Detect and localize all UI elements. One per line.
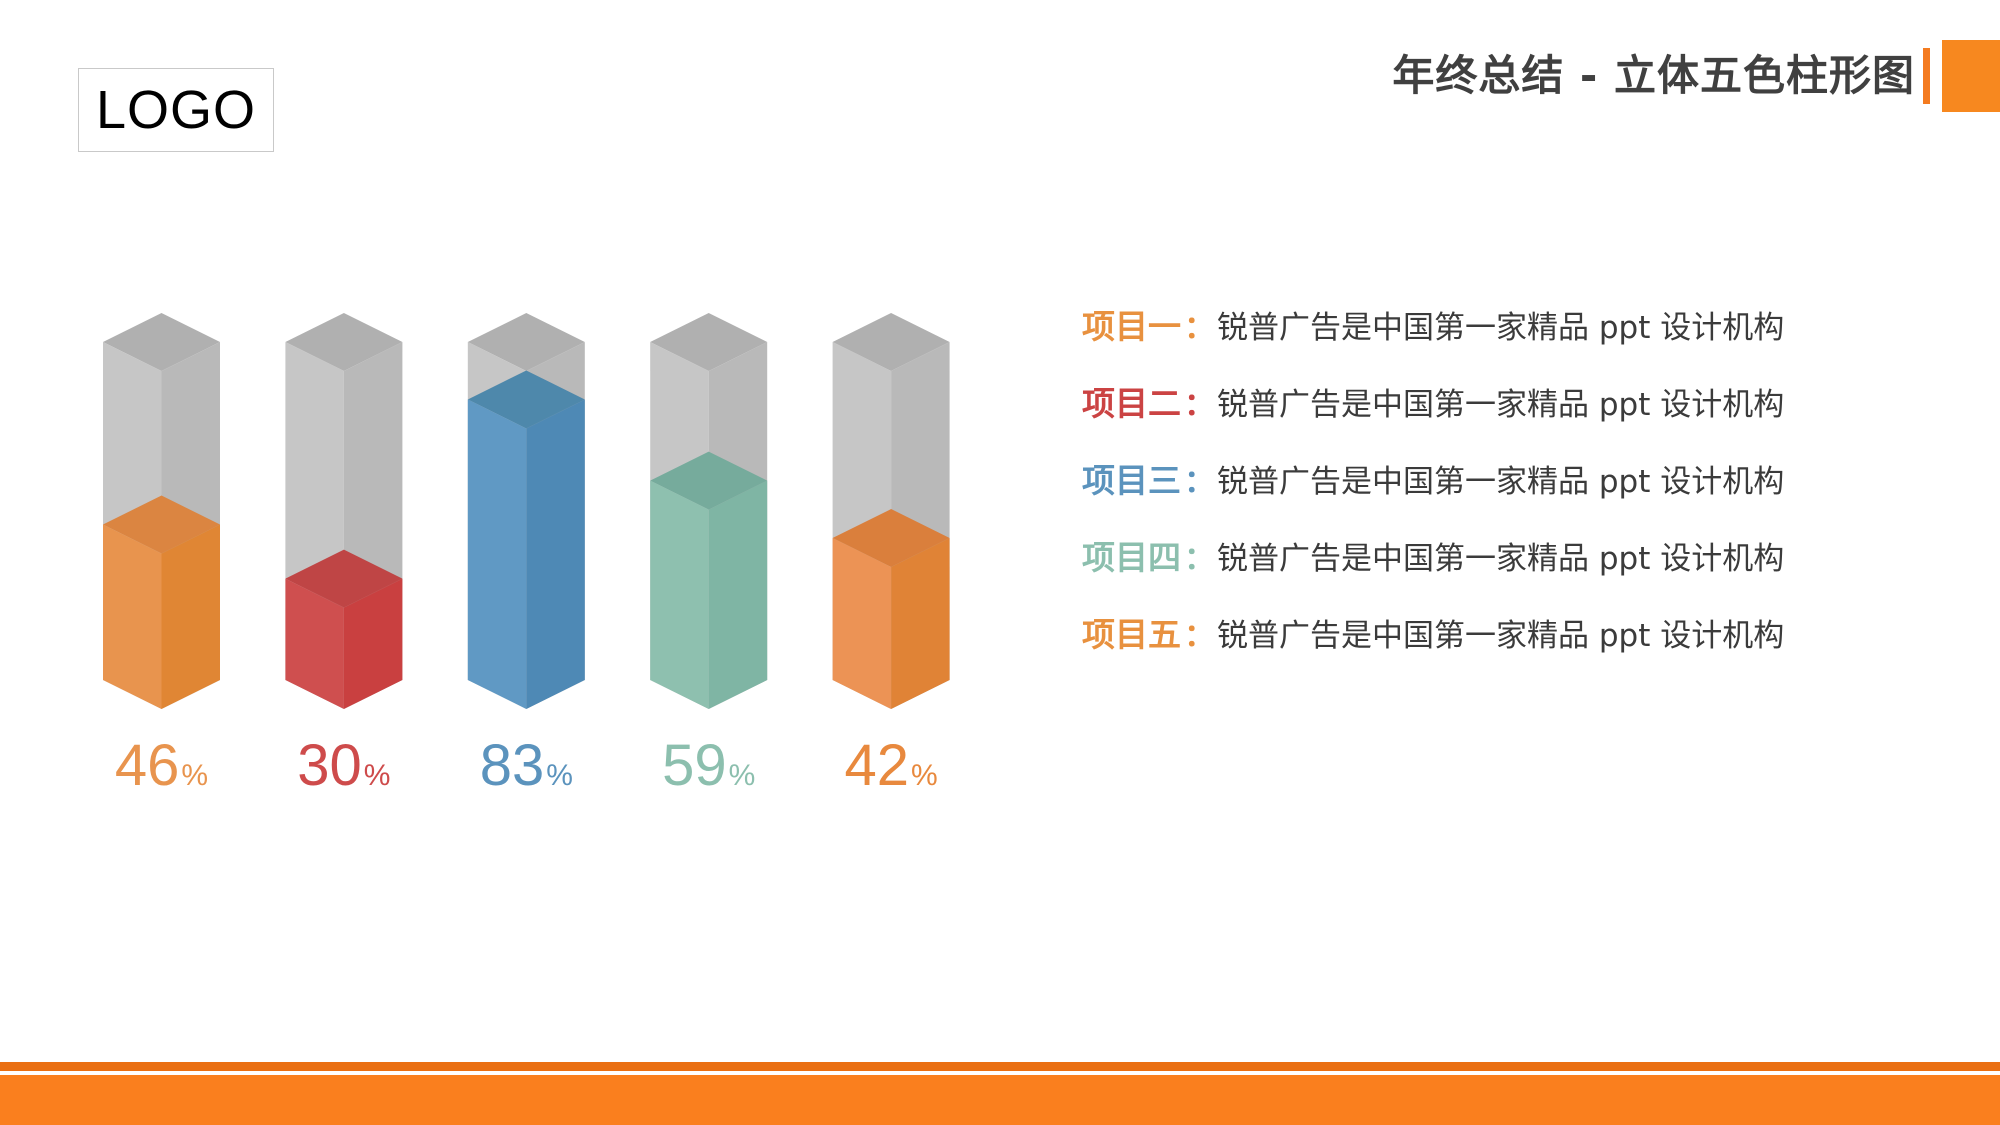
bar-value-percent-sign: %	[364, 759, 391, 792]
bar-value-right-face	[709, 481, 768, 709]
bar-value-percent-sign: %	[181, 759, 208, 792]
legend-item-key: 项目四	[1082, 531, 1181, 579]
bar-value-left-face	[650, 481, 709, 709]
legend-item-key: 项目五	[1082, 608, 1181, 656]
bar-value-percent-sign: %	[911, 759, 938, 792]
slide-canvas: LOGO 年终总结 - 立体五色柱形图 46%30%83%59%42% 项目一：…	[0, 0, 2000, 1125]
bar-column[interactable]	[285, 313, 402, 709]
bar-value-number: 83	[480, 733, 545, 798]
bar-column[interactable]	[650, 313, 767, 709]
bar-chart: 46%30%83%59%42%	[0, 0, 1060, 820]
legend-list: 项目一：锐普广告是中国第一家精品 ppt 设计机构项目二：锐普广告是中国第一家精…	[1082, 300, 1962, 685]
legend-item[interactable]: 项目五：锐普广告是中国第一家精品 ppt 设计机构	[1082, 608, 1962, 685]
legend-item-key: 项目一	[1082, 300, 1181, 348]
bar-value-number: 46	[115, 733, 180, 798]
legend-item-colon: ：	[1184, 610, 1215, 655]
slide-header: 年终总结 - 立体五色柱形图	[1392, 42, 2000, 110]
legend-item-key: 项目三	[1082, 454, 1181, 502]
legend-item-key: 项目二	[1082, 377, 1181, 425]
title-accent-rule	[1923, 48, 1930, 104]
legend-item-colon: ：	[1184, 456, 1215, 501]
bar-value-left-face	[833, 538, 892, 709]
bar-value-number: 59	[662, 733, 727, 798]
legend-item-description: 锐普广告是中国第一家精品 ppt 设计机构	[1217, 456, 1784, 501]
legend-item[interactable]: 项目一：锐普广告是中国第一家精品 ppt 设计机构	[1082, 300, 1962, 377]
legend-item-colon: ：	[1184, 302, 1215, 347]
legend-item-description: 锐普广告是中国第一家精品 ppt 设计机构	[1217, 610, 1784, 655]
bar-column[interactable]	[833, 313, 950, 709]
page-title: 年终总结 - 立体五色柱形图	[1392, 55, 1915, 97]
bar-value-number: 42	[844, 733, 909, 798]
legend-item-colon: ：	[1184, 533, 1215, 578]
title-accent-block	[1942, 40, 2000, 112]
legend-item[interactable]: 项目二：锐普广告是中国第一家精品 ppt 设计机构	[1082, 377, 1962, 454]
legend-item[interactable]: 项目四：锐普广告是中国第一家精品 ppt 设计机构	[1082, 531, 1962, 608]
legend-item[interactable]: 项目三：锐普广告是中国第一家精品 ppt 设计机构	[1082, 454, 1962, 531]
bar-value-label: 42%	[781, 737, 1001, 795]
bar-column[interactable]	[103, 313, 220, 709]
bar-chart-svg	[0, 0, 1060, 820]
bar-column[interactable]	[468, 313, 585, 709]
bar-value-left-face	[103, 525, 162, 709]
legend-item-description: 锐普广告是中国第一家精品 ppt 设计机构	[1217, 379, 1784, 424]
footer-thin-bar	[0, 1062, 2000, 1071]
legend-item-description: 锐普广告是中国第一家精品 ppt 设计机构	[1217, 302, 1784, 347]
bar-value-number: 30	[297, 733, 362, 798]
bar-value-percent-sign: %	[729, 759, 756, 792]
footer-thick-bar	[0, 1075, 2000, 1125]
bar-value-right-face	[162, 525, 221, 709]
legend-item-description: 锐普广告是中国第一家精品 ppt 设计机构	[1217, 533, 1784, 578]
bar-value-right-face	[526, 399, 585, 709]
bar-value-percent-sign: %	[546, 759, 573, 792]
bar-value-right-face	[891, 538, 950, 709]
bar-value-left-face	[468, 399, 527, 709]
legend-item-colon: ：	[1184, 379, 1215, 424]
